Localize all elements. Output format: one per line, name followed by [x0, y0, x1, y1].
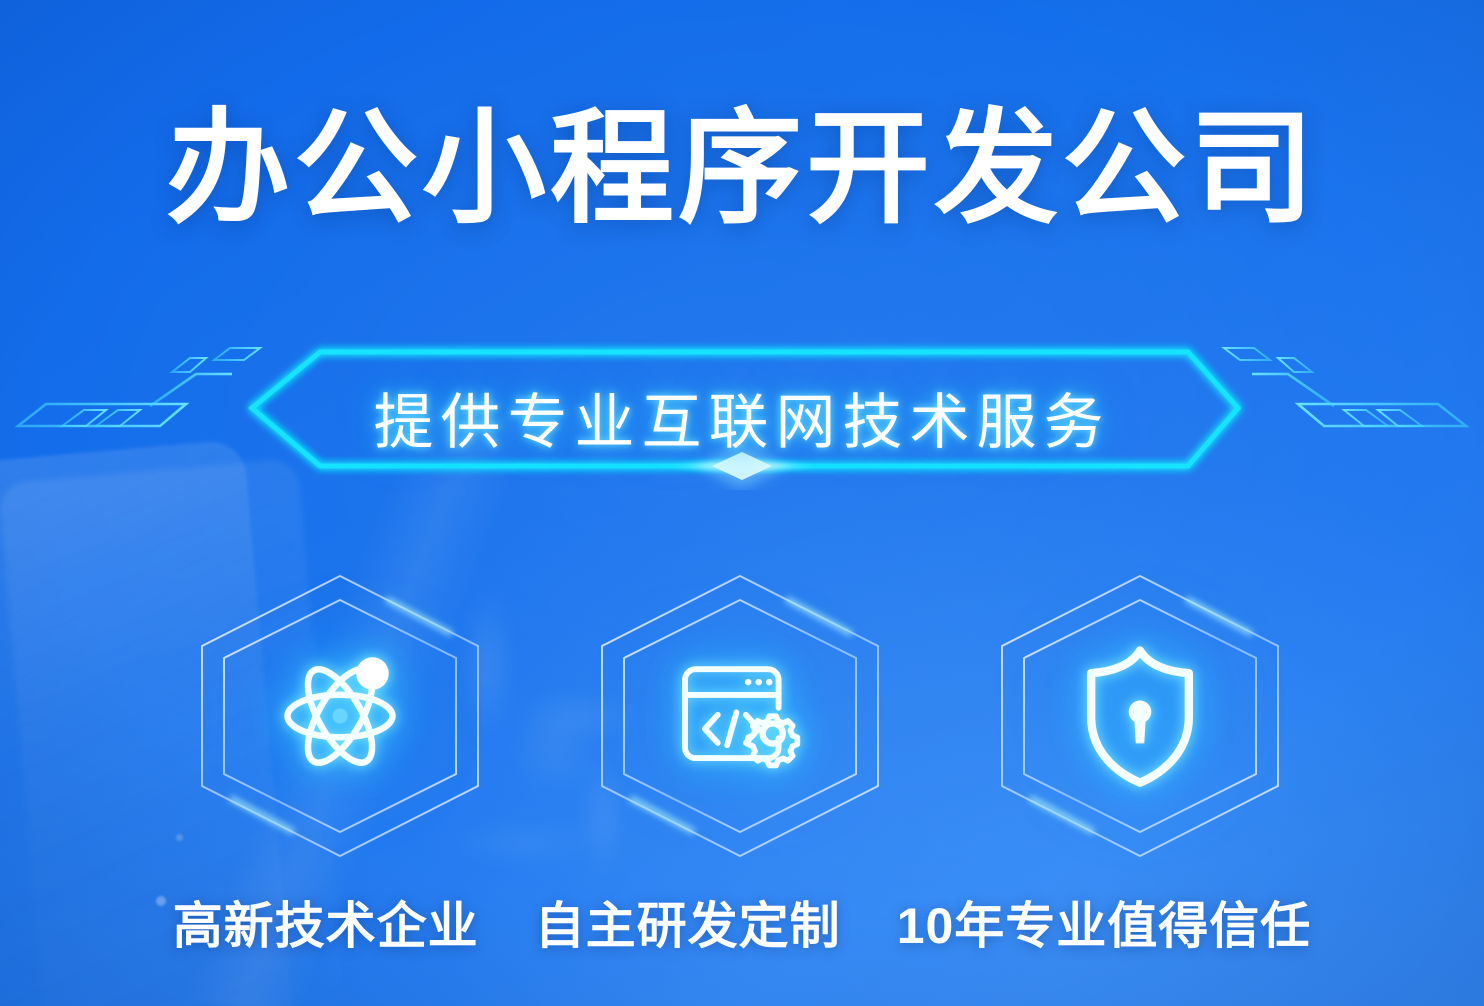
poster-root: 办公小程序开发公司 [0, 0, 1484, 1006]
code-window-gear-icon [590, 566, 890, 866]
feature-card-1[interactable] [190, 566, 490, 866]
subtitle-banner: 提供专业互联网技术服务 [0, 330, 1484, 490]
feature-caption-3: 10年专业值得信任 [897, 886, 1312, 958]
feature-hexagon-row [0, 566, 1484, 866]
shield-lock-icon [990, 566, 1290, 866]
feature-caption-2: 自主研发定制 [535, 886, 841, 958]
page-subtitle: 提供专业互联网技术服务 [0, 374, 1484, 461]
page-title: 办公小程序开发公司 [0, 104, 1484, 234]
feature-card-3[interactable] [990, 566, 1290, 866]
feature-caption-1: 高新技术企业 [173, 886, 479, 958]
atom-icon [190, 566, 490, 866]
feature-card-2[interactable] [590, 566, 890, 866]
feature-caption-row: 高新技术企业 自主研发定制 10年专业值得信任 [0, 886, 1484, 958]
